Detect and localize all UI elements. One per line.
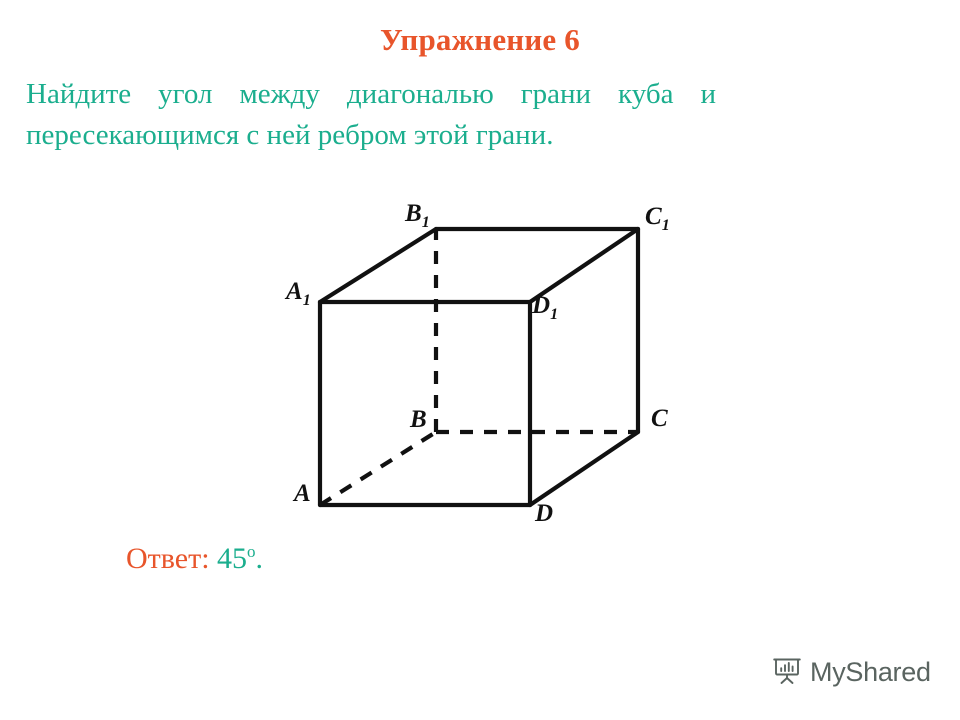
- cube-solid-edges: [320, 229, 638, 505]
- slide-root: Упражнение 6 Найдите угол между диагонал…: [0, 0, 960, 720]
- degree-symbol: о: [247, 542, 256, 561]
- cube-edge-A-B: [320, 432, 436, 505]
- cube-dashed-edges: [320, 229, 638, 505]
- flipchart-chart-icon: [772, 655, 802, 690]
- task-text-line-1: Найдите угол между диагональю грани куба…: [26, 74, 716, 115]
- vertex-label-D1: D1: [532, 292, 558, 324]
- vertex-label-B1: B1: [405, 200, 430, 232]
- cube-edge-A1-B1: [320, 229, 436, 302]
- vertex-label-A1: A1: [286, 278, 311, 310]
- vertex-label-B: B: [410, 406, 427, 434]
- task-text-line-2: пересекающимся с ней ребром этой грани.: [26, 115, 716, 156]
- cube-edge-D-C: [530, 432, 638, 505]
- answer-period: .: [256, 542, 264, 575]
- task-text: Найдите угол между диагональю грани куба…: [26, 74, 716, 156]
- vertex-label-A: A: [294, 480, 311, 508]
- answer-label: Ответ:: [126, 542, 210, 575]
- vertex-label-D: D: [535, 500, 553, 528]
- vertex-label-C1: C1: [645, 203, 670, 235]
- answer-value: 45: [217, 542, 247, 575]
- page-title: Упражнение 6: [0, 22, 960, 58]
- answer-line: Ответ: 45о.: [126, 542, 263, 576]
- myshared-watermark: MyShared: [772, 655, 931, 690]
- vertex-label-C: C: [651, 405, 668, 433]
- watermark-text: MyShared: [810, 657, 931, 688]
